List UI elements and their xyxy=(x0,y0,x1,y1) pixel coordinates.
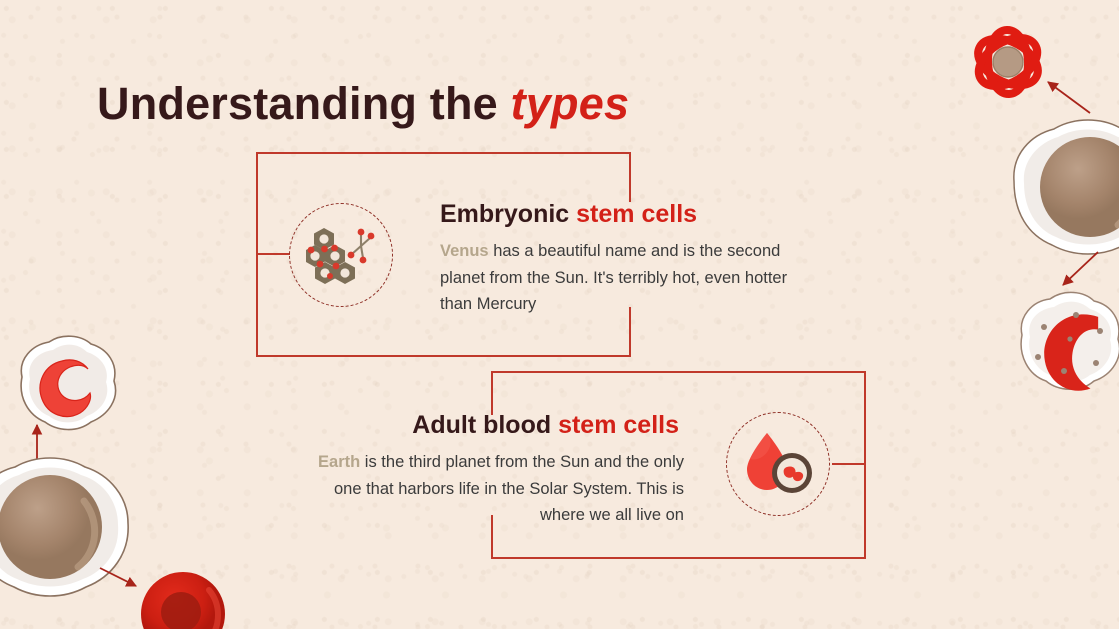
embryonic-heading-prefix: Embryonic xyxy=(440,200,576,228)
adult-body-rest: is the third planet from the Sun and the… xyxy=(334,453,684,524)
embryonic-body-rest: has a beautiful name and is the second p… xyxy=(440,242,787,313)
frame-edge-bottom xyxy=(491,557,866,559)
embryonic-icon-circle xyxy=(289,203,393,307)
embryonic-heading-accent: stem cells xyxy=(576,200,697,228)
adult-heading: Adult blood stem cells xyxy=(412,411,679,440)
embryonic-heading: Embryonic stem cells xyxy=(440,200,697,229)
stem-cell-hex-cluster-icon xyxy=(306,224,376,286)
page-title-prefix: Understanding the xyxy=(97,78,511,129)
embryonic-lead-word: Venus xyxy=(440,242,489,260)
adult-heading-accent: stem cells xyxy=(558,411,679,439)
frame-edge-right xyxy=(864,371,866,559)
frame-edge-left-top xyxy=(491,371,493,415)
frame-connector-stub xyxy=(256,253,290,255)
adult-body-text: Earth is the third planet from the Sun a… xyxy=(296,449,684,529)
frame-edge-bottom xyxy=(256,355,631,357)
frame-connector-stub xyxy=(832,463,866,465)
adult-lead-word: Earth xyxy=(318,453,360,471)
adult-heading-prefix: Adult blood xyxy=(412,411,558,439)
frame-edge-right-top xyxy=(629,152,631,202)
page-title-accent: types xyxy=(511,78,630,129)
blood-drop-cell-icon xyxy=(741,431,815,497)
adult-icon-circle xyxy=(726,412,830,516)
embryonic-body-text: Venus has a beautiful name and is the se… xyxy=(440,238,812,318)
page-title: Understanding the types xyxy=(97,78,629,130)
frame-edge-top xyxy=(491,371,866,373)
frame-edge-top xyxy=(256,152,631,154)
